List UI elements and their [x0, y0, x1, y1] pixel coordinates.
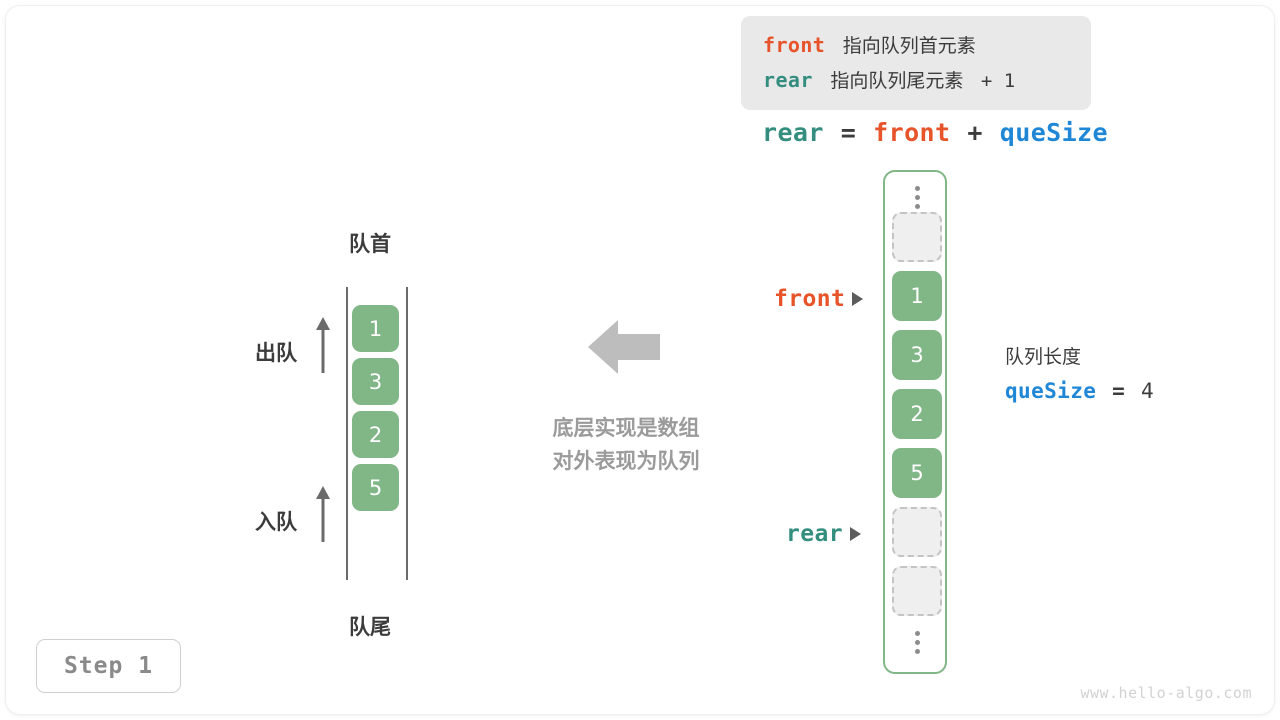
ellipsis-bottom-icon [885, 631, 949, 654]
diagram-canvas: front 指向队列首元素 rear 指向队列尾元素 + 1 rear = fr… [0, 0, 1280, 720]
rear-pointer-arrow-icon [850, 527, 861, 541]
enqueue-arrow-icon [313, 484, 333, 544]
formula-equals: = [841, 118, 856, 147]
front-pointer: front [774, 286, 863, 312]
queue-cell: 1 [352, 305, 399, 352]
watermark: www.hello-algo.com [1080, 684, 1252, 702]
array-slot-filled: 2 [892, 389, 942, 439]
center-note: 底层实现是数组 对外表现为队列 [528, 412, 724, 478]
front-pointer-arrow-icon [852, 292, 863, 306]
array-slot-empty [892, 507, 942, 557]
quesize-name: queSize [1005, 379, 1096, 403]
legend-suffix-rear: + 1 [981, 70, 1015, 92]
formula-plus: + [967, 118, 982, 147]
step-badge: Step 1 [36, 639, 181, 693]
array-slot-filled: 1 [892, 271, 942, 321]
left-pointing-arrow-icon [588, 318, 660, 376]
front-pointer-label: front [774, 286, 845, 312]
queue-rail-right [406, 287, 408, 580]
legend-row-rear: rear 指向队列尾元素 + 1 [763, 63, 1091, 98]
formula-rhs-front: front [873, 118, 950, 147]
queue-head-label: 队首 [349, 228, 391, 258]
queue-tail-label: 队尾 [349, 611, 391, 641]
queue-size-expression: queSize = 4 [1005, 372, 1154, 411]
quesize-equals: = [1112, 379, 1125, 403]
rear-pointer-label: rear [786, 521, 843, 547]
dequeue-label: 出队 [255, 337, 297, 367]
legend-term-front: front [763, 33, 825, 57]
rear-pointer: rear [786, 521, 861, 547]
quesize-value: 4 [1141, 379, 1154, 403]
formula-rhs-quesize: queSize [1000, 118, 1108, 147]
pointer-legend-box: front 指向队列首元素 rear 指向队列尾元素 + 1 [741, 16, 1091, 110]
dequeue-arrow-icon [313, 315, 333, 375]
legend-row-front: front 指向队列首元素 [763, 28, 1091, 63]
legend-desc-rear: 指向队列尾元素 [830, 70, 963, 92]
queue-size-note: 队列长度 queSize = 4 [1005, 342, 1154, 411]
center-note-line1: 底层实现是数组 [528, 412, 724, 445]
ellipsis-top-icon [885, 186, 949, 209]
queue-cell: 2 [352, 411, 399, 458]
queue-rail-left [346, 287, 348, 580]
queue-size-label: 队列长度 [1005, 342, 1154, 372]
array-slot-filled: 3 [892, 330, 942, 380]
formula-lhs: rear [762, 118, 824, 147]
legend-term-rear: rear [763, 68, 813, 92]
queue-cell: 5 [352, 464, 399, 511]
array-slot-empty [892, 212, 942, 262]
array-slot-empty [892, 566, 942, 616]
enqueue-label: 入队 [255, 506, 297, 536]
array-container: 1 3 2 5 [883, 170, 947, 674]
array-slot-filled: 5 [892, 448, 942, 498]
rear-formula: rear = front + queSize [762, 118, 1108, 148]
legend-desc-front: 指向队列首元素 [843, 35, 976, 57]
center-note-line2: 对外表现为队列 [528, 445, 724, 478]
queue-cell: 3 [352, 358, 399, 405]
